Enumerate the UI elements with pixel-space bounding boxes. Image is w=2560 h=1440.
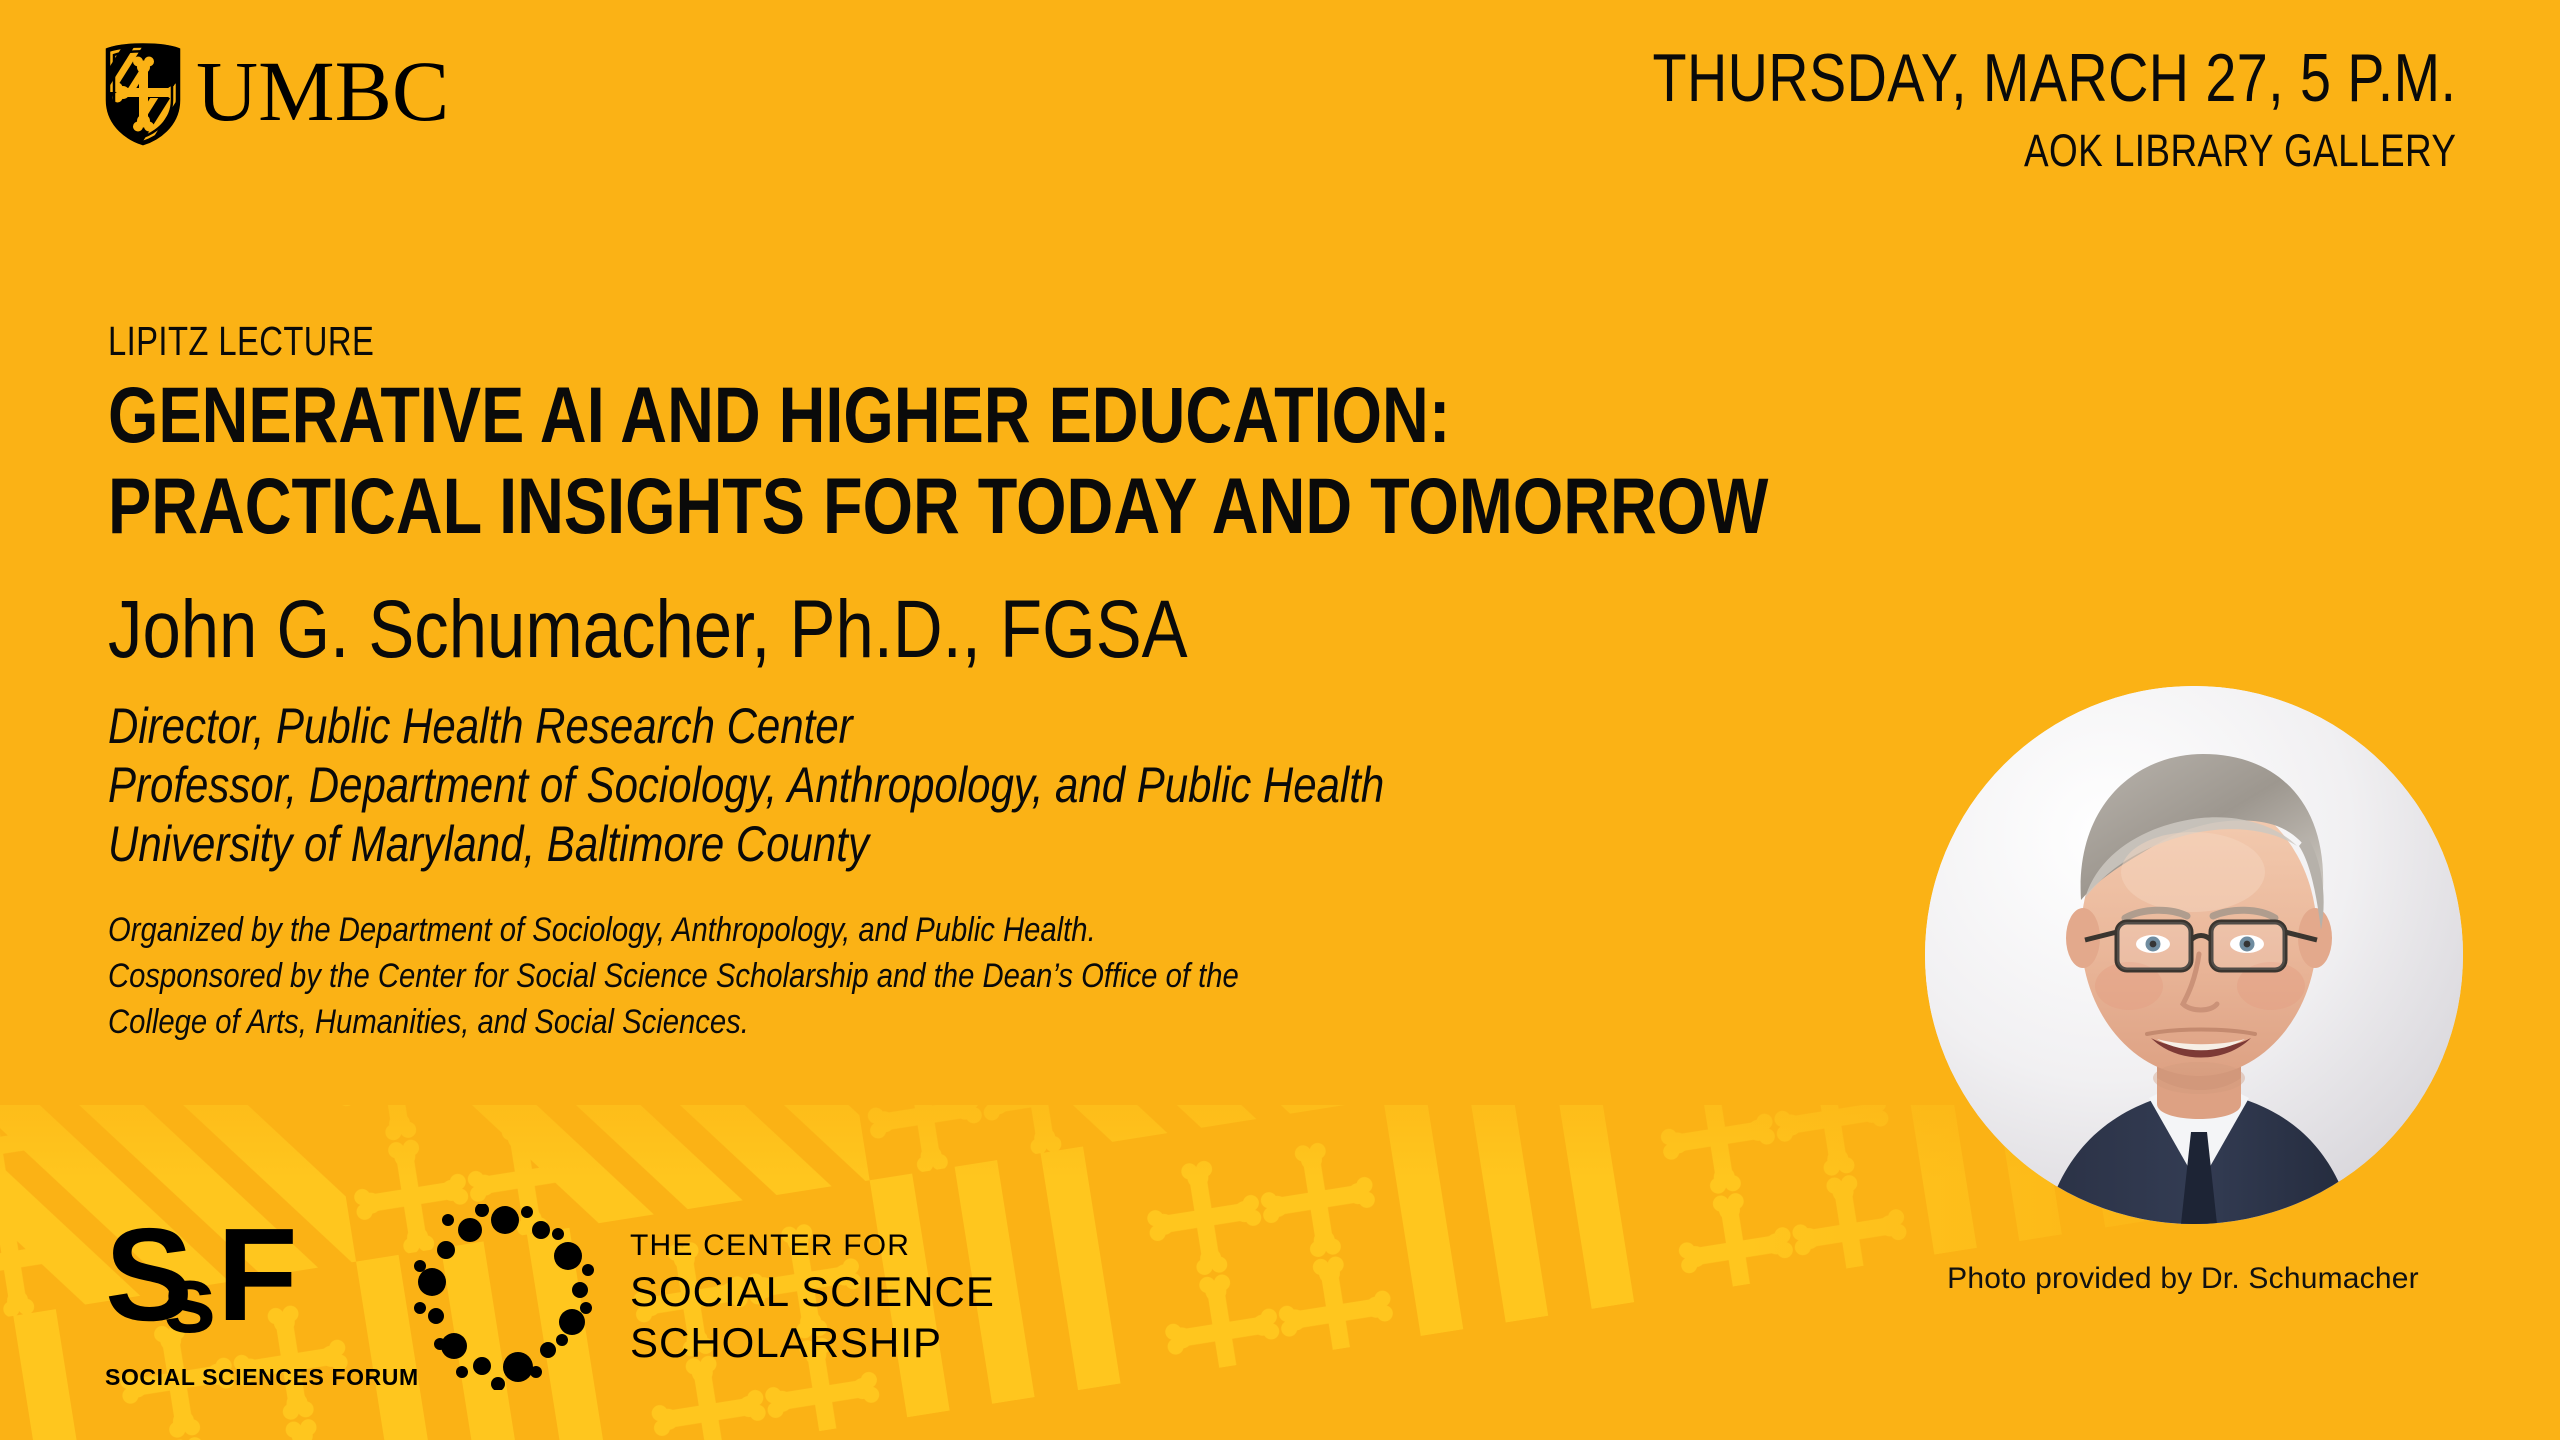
umbc-shield-icon: [104, 42, 182, 146]
event-datetime-block: THURSDAY, MARCH 27, 5 P.M. AOK LIBRARY G…: [1476, 44, 2456, 173]
speaker-portrait: [1925, 686, 2463, 1224]
page-title-line-1: GENERATIVE AI AND HIGHER EDUCATION:: [108, 375, 1748, 454]
csss-wordmark: THE CENTER FOR SOCIAL SCIENCE SCHOLARSHI…: [630, 1226, 995, 1368]
photo-credit: Photo provided by Dr. Schumacher: [1903, 1262, 2463, 1296]
page-title-line-2: PRACTICAL INSIGHTS FOR TODAY AND TOMORRO…: [108, 466, 1748, 545]
center-social-science-scholarship-logo: THE CENTER FOR SOCIAL SCIENCE SCHOLARSHI…: [412, 1204, 995, 1390]
page-title: GENERATIVE AI AND HIGHER EDUCATION: PRAC…: [108, 375, 2108, 545]
affiliation-line-1: Director, Public Health Research Center: [108, 697, 1788, 756]
organizer-credits: Organized by the Department of Sociology…: [108, 908, 2108, 1046]
speaker-affiliations: Director, Public Health Research Center …: [108, 697, 2108, 874]
lecture-series-label: LIPITZ LECTURE: [108, 318, 1708, 365]
main-content: LIPITZ LECTURE GENERATIVE AI AND HIGHER …: [108, 318, 2108, 1046]
csss-line-1: THE CENTER FOR: [630, 1226, 995, 1266]
credit-line-3: College of Arts, Humanities, and Social …: [108, 1000, 1828, 1046]
event-date: THURSDAY, MARCH 27, 5 P.M.: [1652, 44, 2456, 112]
svg-text:F: F: [217, 1216, 293, 1348]
csss-dot-ring-icon: [412, 1204, 598, 1390]
credit-line-2: Cosponsored by the Center for Social Sci…: [108, 954, 1828, 1000]
csss-line-3: SCHOLARSHIP: [630, 1317, 995, 1368]
umbc-logo: UMBC: [104, 42, 449, 146]
social-sciences-forum-logo: S s F SOCIAL SCIENCES FORUM: [105, 1216, 345, 1391]
credit-line-1: Organized by the Department of Sociology…: [108, 908, 1828, 954]
speaker-name: John G. Schumacher, Ph.D., FGSA: [108, 589, 1788, 671]
umbc-wordmark: UMBC: [196, 48, 449, 134]
svg-text:s: s: [163, 1246, 213, 1348]
affiliation-line-2: Professor, Department of Sociology, Anth…: [108, 756, 1788, 815]
ssf-caption: SOCIAL SCIENCES FORUM: [105, 1364, 345, 1391]
event-flyer: UMBC THURSDAY, MARCH 27, 5 P.M. AOK LIBR…: [0, 0, 2560, 1440]
event-location: AOK LIBRARY GALLERY: [1652, 128, 2456, 173]
affiliation-line-3: University of Maryland, Baltimore County: [108, 815, 1788, 874]
csss-line-2: SOCIAL SCIENCE: [630, 1266, 995, 1317]
ssf-monogram-icon: S s F: [105, 1216, 345, 1348]
